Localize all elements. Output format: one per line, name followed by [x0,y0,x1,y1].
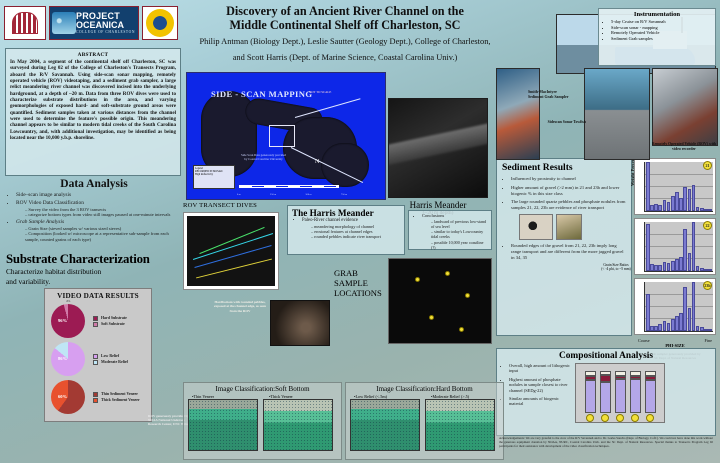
abstract-heading: ABSTRACT [10,52,176,58]
bar [675,316,679,331]
video-data-results-panel: VIDEO DATA RESULTS 96% 4% Hard Substrate… [44,288,152,422]
legend-swatch [93,360,98,365]
list-item: Highest amount of phosphate nodules in s… [509,377,571,393]
authors-line-2: and Scott Harris (Dept. of Marine Scienc… [185,53,505,64]
compositional-list: Overall, high amount of lithogenic input… [501,363,571,423]
bar [679,198,683,211]
sample-marker [445,271,450,276]
logo-oceanica-text: OCEANICA [76,21,138,30]
sediment-results-list: Influenced by proximity to channel Highe… [501,176,627,211]
channel-band [388,120,488,167]
project-oceanica-logo: PROJECT OCEANICA COLLEGE OF CHARLESTON [49,6,139,40]
bar [654,326,658,331]
bar [663,321,667,331]
legend-label: Moderate Relief [101,359,128,365]
bar [708,329,712,331]
list-item: Conclusions landward of previous low-sta… [422,213,488,250]
bar [679,257,683,271]
logo-tagline: COLLEGE OF CHARLESTON [76,30,138,34]
gsl-line-2: SAMPLE [334,278,386,288]
da-item-2-text: Grab Sample Analysis [16,219,64,225]
bar [692,282,696,331]
thin-veneer-photo [188,399,258,451]
bar [683,229,687,271]
substrate-subtext-2: and variability. [6,278,182,287]
list-item: The large rounded quartz pebbles and pho… [511,199,627,211]
grab-sample-location-map [388,258,492,344]
relief-pie-row: 86% Low Relief Moderate Relief [45,340,151,378]
grab-sampler-label: Smith-MacIntyre Sediment Grab Sampler [528,90,570,100]
grain-ribbon-line-2: (< -4 phi, to ~5 mm) [596,267,636,271]
bar [650,264,654,271]
list-item: Rounded edges of the gravel from 21, 22,… [511,243,627,260]
legend-swatch [93,392,98,397]
ic-hard-images-row [346,399,503,451]
composition-stacked-bar-chart [575,363,665,423]
side-scan-legend-box: Legend RECORDED IN MOSAIC High Reflectiv… [193,165,235,189]
substrate-heading: Substrate Characterization [6,252,182,267]
list-item: Sediment Grab samples [611,36,711,42]
instrumentation-heading: Instrumentation [603,11,711,18]
pebble-photos [519,214,627,240]
legend-item: Thick Sediment Veneer [93,397,140,403]
tick-label: 250 m [270,193,276,196]
pie-2-main-pct: 60% [58,394,67,399]
list-item: Grab Sample Analysis Grain Size (sieved … [16,219,182,243]
rov-dives-heading: ROV TRANSECT DIVES [183,202,257,209]
cofc-logo-icon [4,6,46,40]
list-item: possible 10,000 year coastline (?) [431,240,488,250]
sediment-results-list-2: Rounded edges of the gravel from 21, 22,… [501,243,627,260]
grab-sample-locations-label: GRAB SAMPLE LOCATIONS [334,268,386,298]
pie-0-main-pct: 96% [58,318,67,323]
conclusions-bullet-text: Conclusions [422,213,444,218]
rov-track-plot [187,216,275,286]
bar [692,185,696,211]
sample-badge-22 [601,414,609,422]
veneer-pie-chart: 60% [51,380,85,414]
sample-badge-34 [631,414,639,422]
scale-bar [239,185,339,188]
grab-sampler-photo [496,68,540,160]
rov-photo-label: Remotely Operated Vehicle (ROV) with vid… [650,142,718,151]
bar [700,327,704,331]
bar [688,189,692,211]
xaxis-left-label: Coarse [638,338,650,343]
bar [671,196,675,211]
legend-swatch [93,398,98,403]
quartz-pebbles-photo [519,214,553,240]
da-item-1-subs: Survey the video from the 3 ROV transect… [16,207,182,218]
bar [646,294,650,331]
hm-bullet-text: Paleo-River channel evidence [302,218,358,223]
bar [654,265,658,271]
bar-series [646,282,712,331]
list-item: Overall, high amount of lithogenic input [509,363,571,374]
harris-meander-heading: The Harris Meander [292,208,400,218]
list-item: Influenced by proximity to channel [511,176,627,182]
list-item: similar to today's Lowcountry tidal cree… [431,229,488,239]
sample-marker [459,327,464,332]
image-classification-soft-panel: Image Classification:Soft Bottom •Thin V… [183,382,342,460]
abstract-panel: ABSTRACT In May 2004, a segment of the c… [5,48,181,176]
stacked-bar-35 [645,371,656,413]
acknowledgements-text: Acknowledgements: We are very grateful t… [499,437,713,449]
segment-biogenic [615,371,626,376]
video-results-heading: VIDEO DATA RESULTS [45,292,151,300]
sediment-results-panel: Sediment Results Influenced by proximity… [496,158,632,336]
acknowledgements-panel: Acknowledgements: We are very grateful t… [496,436,716,460]
bar [646,224,650,271]
list-item: ROV Video Data Classification Survey the… [16,200,182,218]
bar [696,326,700,331]
list-item: Composition (looked w/ microscope at a r… [25,231,182,242]
segment-biogenic [585,371,596,376]
bar [667,202,671,211]
stacked-bar-23b [615,371,626,413]
da-item-2-subs: Grain Size (sieved samples w/ various si… [16,226,182,243]
phosphate-nodule-photo [556,214,582,240]
hm-sub-list: meandering morphology of channel erosion… [302,224,400,240]
bar-chart-22: 22 [634,218,716,275]
sample-badge-21 [586,414,594,422]
bar [683,187,687,212]
stacked-bar-34 [630,371,641,413]
legend-item: Moderate Relief [93,359,128,365]
bar [658,205,662,211]
bar [658,265,662,271]
ic-hard-heading: Image Classification:Hard Bottom [346,385,503,393]
segment-biogenic [600,371,611,375]
segment-biogenic [645,371,656,376]
sample-marker [429,315,434,320]
veneer-pie-row: 60% Thin Sediment Veneer Thick Sediment … [45,378,151,416]
list-item: rounded pebbles indicate river transport [311,234,400,239]
data-analysis-heading: Data Analysis [6,178,182,190]
bar [700,268,704,271]
bar [700,208,704,211]
xaxis-right-label: Fine [705,338,712,343]
segment-phosphate [615,376,626,380]
ic-soft-images-row [184,399,341,451]
plot-area [644,282,713,332]
harris-meander-list: Paleo-River channel evidence meandering … [292,218,400,240]
conclusions-panel: Conclusions landward of previous low-sta… [408,210,492,250]
ic-soft-heading: Image Classification:Soft Bottom [184,385,341,393]
conclusions-sub-list: landward of previous low-stand of sea le… [422,219,488,250]
substrate-pie-row: 96% 4% Hard Substrate Soft Substrate [45,302,151,340]
list-item: Higher amount of gravel (>2 mm) in 21 an… [511,185,627,197]
bar-series [646,222,712,271]
legend-swatch [93,316,98,321]
plot-area [644,222,713,272]
sample-marker [465,293,470,298]
segment-phosphate [645,376,656,379]
compositional-body: Overall, high amount of lithogenic input… [501,363,711,423]
bar [704,329,708,331]
side-scan-subtitle: NOT TO SCALE [309,90,331,94]
rov-photo [652,68,718,146]
title-line-2: Middle Continental Shelf off Charleston,… [185,18,505,32]
legend-label: Soft Substrate [101,321,125,327]
bar [646,162,650,211]
list-item: landward of previous low-stand of sea le… [431,219,488,229]
bar [688,308,692,331]
harris-meander-sonar-image [388,98,488,198]
bar [704,209,708,211]
bar [675,192,679,211]
da-item-0-text: Side–scan image analysis [16,192,71,198]
poster-title-block: Discovery of an Ancient River Channel on… [185,4,505,63]
compositional-heading: Compositional Analysis [501,351,711,361]
bar-series [646,162,712,211]
underwater-photo-caption: Hardbottom with rounded pebbles, exposed… [212,300,268,313]
sample-marker [415,277,420,282]
substrate-pie-chart: 96% 4% [51,304,85,338]
legend-swatch [93,354,98,359]
segment-lithogenic [615,379,626,413]
data-analysis-list: Side–scan image analysis ROV Video Data … [6,192,182,242]
bar [650,326,654,331]
side-scan-title: SIDE - SCAN MAPPING [211,89,312,99]
bar [679,313,683,331]
track-line [194,245,271,268]
bar [696,207,700,211]
segment-phosphate [600,375,611,382]
tick-label: 0 m [237,193,241,196]
bar [654,204,658,211]
authors-line-1: Philip Antman (Biology Dept.), Leslie Sa… [185,37,505,48]
stacked-bar-22 [600,371,611,413]
substrate-subtext-1: Characterize habitat distribution [6,268,182,277]
track-line [196,259,272,279]
legend-item: Soft Substrate [93,321,127,327]
veneer-pie-legend: Thin Sediment Veneer Thick Sediment Vene… [93,391,140,403]
grain-size-ribbon: Grain Size Ratios (< -4 phi, to ~5 mm) [596,263,636,293]
substrate-pie-legend: Hard Substrate Soft Substrate [93,315,127,327]
pie-0-small-pct: 4% [66,299,70,303]
substrate-section: Substrate Characterization Characterize … [6,252,182,286]
bar-chart-21: 21 [634,158,716,215]
segment-lithogenic [645,380,656,413]
tick-label: 500 m [305,193,311,196]
bar [708,209,712,211]
segment-lithogenic [630,379,641,413]
scale-tick-labels: 0 m 250 m 500 m 750 m [237,193,347,196]
north-arrow-icon: N [315,159,319,165]
plot-area [644,162,713,212]
sediment-results-heading: Sediment Results [502,162,627,173]
list-item: Side–scan image analysis [16,192,182,199]
segment-biogenic [630,371,641,376]
instrumentation-panel: Instrumentation 5-day Cruise on R/V Sava… [598,8,716,66]
side-scan-credit-2: by Coastal Carolina University [241,157,286,161]
bar [671,319,675,331]
wave-icon [52,12,76,34]
sunburst-icon [146,9,174,37]
sample-badge-35 [646,414,654,422]
relief-pie-legend: Low Relief Moderate Relief [93,353,128,365]
list-item: Paleo-River channel evidence meandering … [302,218,400,240]
sidescan-towfish-label: Sidescan Sonar Towfish [546,120,586,125]
image-classification-hard-panel: Image Classification:Hard Bottom •Low Re… [345,382,504,460]
sample-badge: 23b [703,281,712,290]
thick-veneer-photo [263,399,333,451]
moderate-relief-photo [425,399,495,451]
low-relief-photo [350,399,420,451]
sample-badge: 22 [703,221,712,230]
bar [663,200,667,211]
segment-lithogenic [600,382,611,413]
segment-phosphate [585,376,596,380]
side-scan-detail-box [269,125,295,147]
bar [704,269,708,271]
segment-lithogenic [585,380,596,413]
bar [663,262,667,271]
relief-pie-chart: 86% [51,342,85,376]
deck-crew-photo [584,68,650,160]
instrumentation-list: 5-day Cruise on R/V Savannah Side-scan s… [603,19,711,42]
grain-size-bar-charts: Weight Percentage 21 22 23b Coarse Fine [634,158,716,340]
gate-glyph [12,12,38,34]
noaa-sunburst-logo [142,6,178,40]
underwater-pebble-photo [270,300,330,346]
sample-badge: 21 [703,161,712,170]
list-item: categorize bottom types from video still… [25,212,182,218]
bar-chart-23b: 23b [634,278,716,335]
bar [688,253,692,271]
poster-canvas: PROJECT OCEANICA COLLEGE OF CHARLESTON D… [0,0,720,463]
side-scan-map: SIDE - SCAN MAPPING NOT TO SCALE Side Sc… [186,72,386,200]
bar [667,263,671,271]
sample-badge-23b [616,414,624,422]
bar [675,259,679,271]
segment-phosphate [630,376,641,379]
conclusions-list: Conclusions landward of previous low-sta… [412,213,488,250]
bar [683,287,687,331]
rov-dives-image [183,212,279,290]
bar [667,323,671,331]
stacked-bar-21 [585,371,596,413]
abstract-body: In May 2004, a segment of the continenta… [10,59,176,141]
bar [658,324,662,331]
da-item-1-text: ROV Video Data Classification [16,200,84,206]
side-scan-credit: Side Scan Data generously provided by Co… [241,153,286,161]
gsl-line-1: GRAB [334,268,386,278]
bar [696,266,700,271]
bar [708,269,712,271]
legend-line-2: High Reflectivity [195,173,233,176]
legend-label: Thick Sediment Veneer [101,397,140,403]
logo-bar: PROJECT OCEANICA COLLEGE OF CHARLESTON [4,4,180,42]
title-line-1: Discovery of an Ancient River Channel on… [185,4,505,18]
legend-swatch [93,322,98,327]
bar [692,222,696,271]
data-analysis-section: Data Analysis Side–scan image analysis R… [6,178,182,243]
harris-meander-panel: The Harris Meander Paleo-River channel e… [287,205,405,255]
pie-1-main-pct: 86% [58,356,67,361]
list-item: Similar amounts of biogenic material [509,396,571,407]
compositional-analysis-panel: Compositional Analysis Overall, high amo… [496,348,716,436]
gsl-line-3: LOCATIONS [334,288,386,298]
bar [650,205,654,211]
bar [671,261,675,271]
tick-label: 750 m [341,193,347,196]
